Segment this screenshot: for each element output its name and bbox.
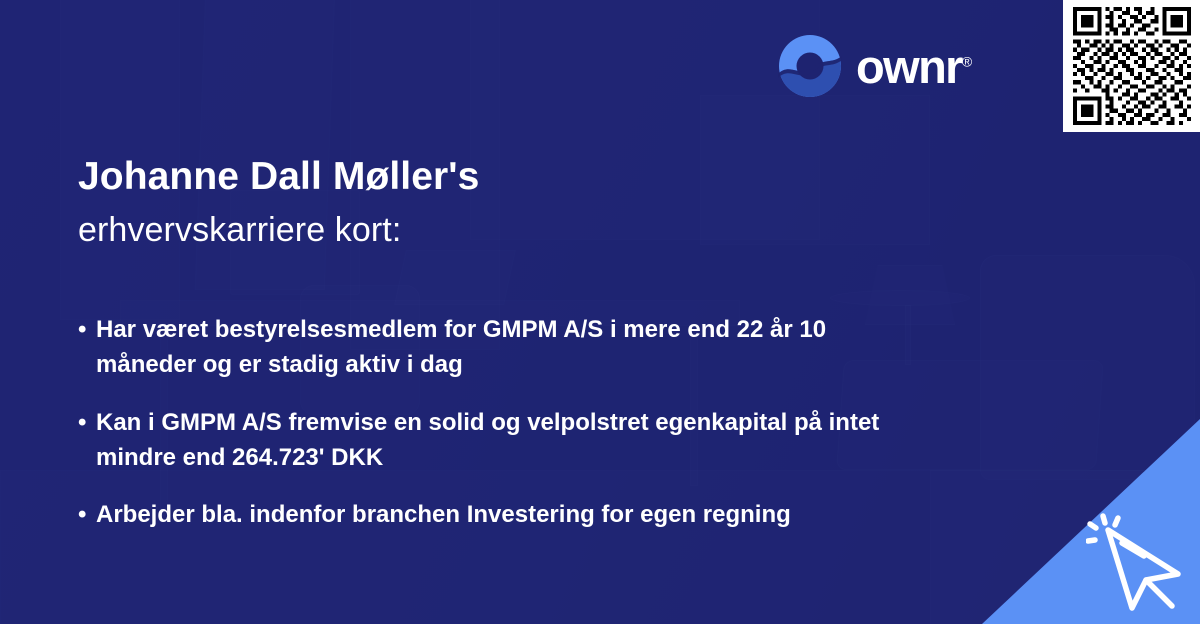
brand-name-text: ownr xyxy=(856,40,962,93)
list-item-text: Arbejder bla. indenfor branchen Invester… xyxy=(96,497,908,532)
person-name-heading: Johanne Dall Møller's xyxy=(78,154,479,199)
list-item: • Kan i GMPM A/S fremvise en solid og ve… xyxy=(78,405,908,476)
list-item: • Arbejder bla. indenfor branchen Invest… xyxy=(78,497,908,532)
click-cursor-icon xyxy=(1086,510,1192,614)
career-card-subtitle: erhvervskarriere kort: xyxy=(78,210,479,251)
brand-lockup[interactable]: ownr® xyxy=(778,34,972,98)
bullet-icon: • xyxy=(78,405,96,440)
list-item-text: Har været bestyrelsesmedlem for GMPM A/S… xyxy=(96,312,908,383)
business-career-card: ownr® Johanne Dall Møller's erhvervskarr… xyxy=(0,0,1200,624)
list-item-text: Kan i GMPM A/S fremvise en solid og velp… xyxy=(96,405,908,476)
page-title: Johanne Dall Møller's erhvervskarriere k… xyxy=(78,154,479,251)
qr-code-panel[interactable] xyxy=(1063,0,1200,132)
career-facts-list: • Har været bestyrelsesmedlem for GMPM A… xyxy=(78,312,908,532)
bullet-icon: • xyxy=(78,312,96,347)
brand-wordmark: ownr® xyxy=(856,43,972,90)
bullet-icon: • xyxy=(78,497,96,532)
ownr-swirl-circle-logo xyxy=(778,34,842,98)
registered-trademark-symbol: ® xyxy=(962,53,972,69)
qr-code[interactable] xyxy=(1073,7,1191,125)
list-item: • Har været bestyrelsesmedlem for GMPM A… xyxy=(78,312,908,383)
